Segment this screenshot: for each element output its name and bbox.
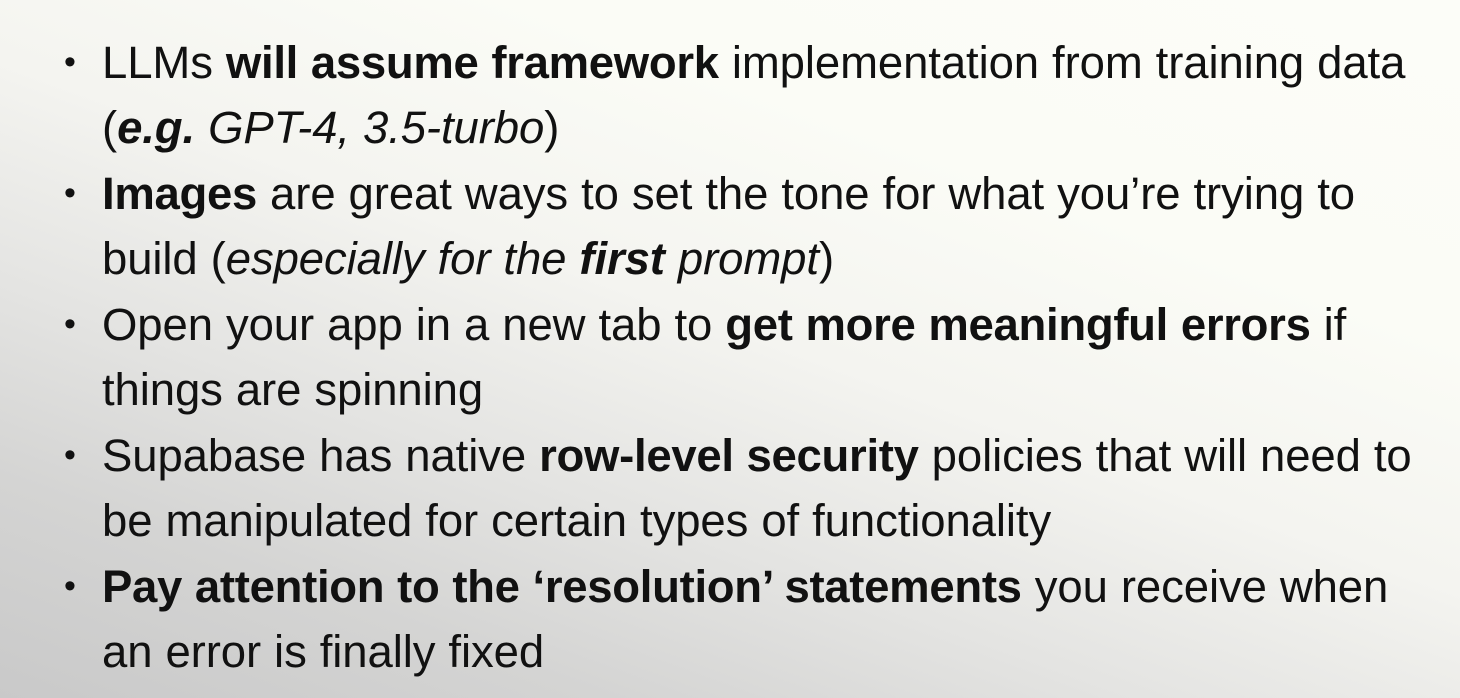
text-run: LLMs xyxy=(102,37,226,88)
text-run: Images xyxy=(102,168,257,219)
text-run: row-level security xyxy=(539,430,919,481)
bullet-point-icon: • xyxy=(64,554,80,619)
bullet-point-icon: • xyxy=(64,161,80,226)
text-run: ) xyxy=(544,102,559,153)
text-run: prompt xyxy=(665,233,819,284)
list-item: • Supabase has native row-level security… xyxy=(58,423,1442,553)
text-run: especially for the xyxy=(226,233,580,284)
text-run: GPT-4, 3.5-turbo xyxy=(195,102,544,153)
bullet-text-resolution-statements: Pay attention to the ‘resolution’ statem… xyxy=(102,554,1442,684)
bullet-point-icon: • xyxy=(64,30,80,95)
list-item: • Pay attention to the ‘resolution’ stat… xyxy=(58,554,1442,684)
text-run: Supabase has native xyxy=(102,430,539,481)
list-item: • Open your app in a new tab to get more… xyxy=(58,292,1442,422)
bullet-text-supabase-row-level-security: Supabase has native row-level security p… xyxy=(102,423,1442,553)
list-item: • Images are great ways to set the tone … xyxy=(58,161,1442,291)
bullet-text-images-set-the-tone: Images are great ways to set the tone fo… xyxy=(102,161,1442,291)
list-item: • LLMs will assume framework implementat… xyxy=(58,30,1442,160)
text-run: Open your app in a new tab to xyxy=(102,299,725,350)
bullet-point-icon: • xyxy=(64,292,80,357)
text-run: will assume framework xyxy=(226,37,719,88)
bullet-list: • LLMs will assume framework implementat… xyxy=(58,30,1442,685)
bullet-text-llm-framework-assumption: LLMs will assume framework implementatio… xyxy=(102,30,1442,160)
text-run: get more meaningful errors xyxy=(725,299,1310,350)
bullet-point-icon: • xyxy=(64,423,80,488)
text-run: e.g. xyxy=(117,102,195,153)
bullet-text-open-app-new-tab: Open your app in a new tab to get more m… xyxy=(102,292,1442,422)
text-run: Pay attention to the ‘resolution’ statem… xyxy=(102,561,1022,612)
slide-canvas: • LLMs will assume framework implementat… xyxy=(0,0,1460,698)
text-run: first xyxy=(579,233,664,284)
text-run: ) xyxy=(819,233,834,284)
